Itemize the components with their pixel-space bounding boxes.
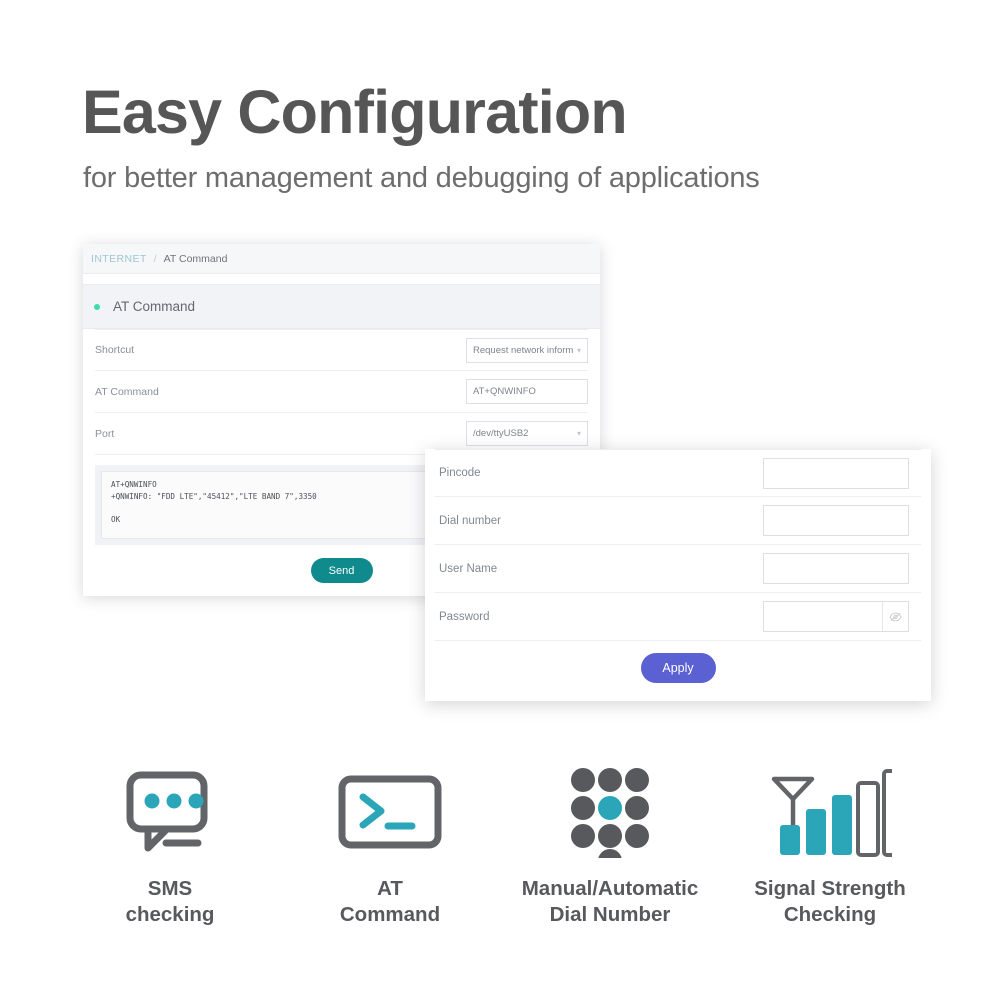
chevron-down-icon: ▾ bbox=[577, 429, 581, 438]
feature-label: Signal Strength Checking bbox=[754, 876, 905, 928]
label-user-name: User Name bbox=[435, 563, 763, 575]
signal-bars-icon bbox=[768, 762, 892, 862]
password-field-group bbox=[763, 601, 909, 632]
chevron-down-icon: ▾ bbox=[577, 346, 581, 355]
dial-number-input[interactable] bbox=[763, 505, 909, 536]
label-password: Password bbox=[435, 611, 763, 623]
form-row-shortcut: Shortcut Request network inform ▾ bbox=[95, 329, 588, 371]
feature-sms-checking: SMS checking bbox=[60, 762, 280, 928]
breadcrumb-internet[interactable]: INTERNET bbox=[91, 253, 147, 265]
feature-signal-strength: Signal Strength Checking bbox=[720, 762, 940, 928]
card-header-title: AT Command bbox=[113, 299, 195, 314]
port-select[interactable]: /dev/ttyUSB2 ▾ bbox=[466, 421, 588, 446]
breadcrumb-at-command: AT Command bbox=[164, 253, 228, 265]
shortcut-select[interactable]: Request network inform ▾ bbox=[466, 338, 588, 363]
at-form: Shortcut Request network inform ▾ AT Com… bbox=[83, 329, 600, 455]
label-dial-number: Dial number bbox=[435, 515, 763, 527]
form-row-pincode: Pincode bbox=[435, 449, 921, 497]
feature-strip: SMS checking AT Command bbox=[60, 762, 940, 928]
form-row-password: Password bbox=[435, 593, 921, 641]
feature-label: SMS checking bbox=[126, 876, 215, 928]
feature-label: AT Command bbox=[340, 876, 440, 928]
breadcrumb-separator: / bbox=[154, 253, 157, 265]
form-row-dial-number: Dial number bbox=[435, 497, 921, 545]
page-subtitle: for better management and debugging of a… bbox=[83, 162, 760, 195]
form-row-user-name: User Name bbox=[435, 545, 921, 593]
dial-settings-panel: Pincode Dial number User Name Password bbox=[425, 449, 931, 701]
terminal-prompt-icon bbox=[337, 762, 443, 862]
form-row-at-command: AT Command AT+QNWINFO bbox=[95, 371, 588, 413]
port-select-value: /dev/ttyUSB2 bbox=[473, 428, 528, 439]
feature-label: Manual/Automatic Dial Number bbox=[522, 876, 699, 928]
apply-button-row: Apply bbox=[435, 653, 921, 683]
send-button[interactable]: Send bbox=[311, 558, 373, 583]
feature-at-command: AT Command bbox=[280, 762, 500, 928]
page-title: Easy Configuration bbox=[82, 80, 627, 144]
page-root: Easy Configuration for better management… bbox=[0, 0, 1000, 1000]
eye-hidden-icon[interactable] bbox=[882, 602, 908, 631]
feature-dial-number: Manual/Automatic Dial Number bbox=[500, 762, 720, 928]
dial-pad-icon bbox=[566, 762, 654, 862]
at-command-input[interactable]: AT+QNWINFO bbox=[466, 379, 588, 404]
status-dot-icon bbox=[94, 304, 100, 310]
apply-button[interactable]: Apply bbox=[641, 653, 716, 683]
label-at-command: AT Command bbox=[95, 386, 466, 398]
breadcrumb: INTERNET / AT Command bbox=[83, 244, 600, 274]
at-command-input-value: AT+QNWINFO bbox=[473, 386, 536, 397]
label-shortcut: Shortcut bbox=[95, 344, 466, 356]
password-input[interactable] bbox=[764, 602, 882, 631]
label-pincode: Pincode bbox=[435, 467, 763, 479]
sms-bubble-icon bbox=[124, 762, 216, 862]
user-name-input[interactable] bbox=[763, 553, 909, 584]
label-port: Port bbox=[95, 428, 466, 440]
shortcut-select-value: Request network inform bbox=[473, 345, 573, 356]
pincode-input[interactable] bbox=[763, 458, 909, 489]
card-header: AT Command bbox=[83, 284, 600, 329]
